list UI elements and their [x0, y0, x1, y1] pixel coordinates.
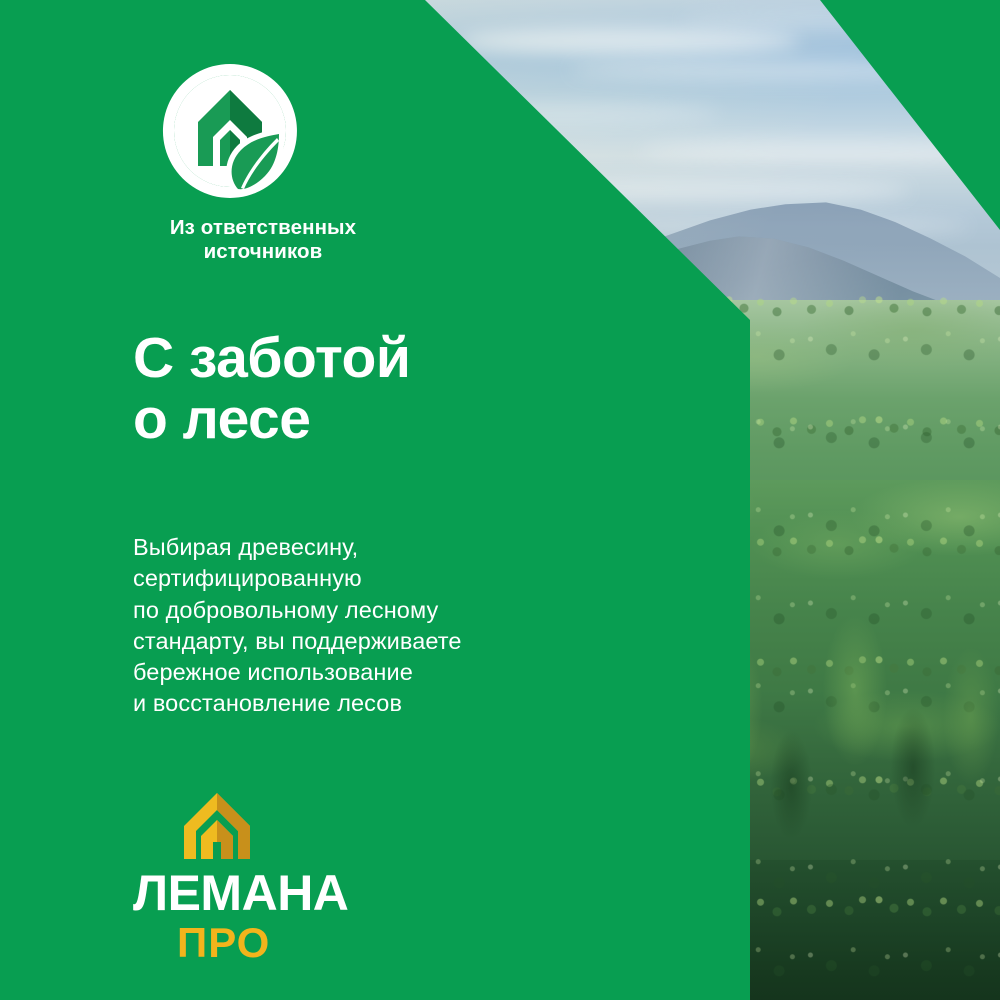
responsible-sources-icon — [161, 62, 299, 200]
page-title: С заботой о лесе — [133, 328, 410, 450]
brand-sub: ПРО — [177, 922, 433, 964]
poster-content: Из ответственных источников С заботой о … — [0, 0, 1000, 1000]
poster: Из ответственных источников С заботой о … — [0, 0, 1000, 1000]
brand-name: ЛЕМАНА — [133, 868, 433, 918]
certification-caption: Из ответственных источников — [133, 216, 393, 264]
brand-lockup: ЛЕМАНА ПРО — [133, 790, 433, 964]
house-icon — [181, 790, 253, 862]
certification-badge: Из ответственных источников — [133, 62, 433, 264]
body-copy: Выбирая древесину, сертифицированную по … — [133, 532, 462, 720]
